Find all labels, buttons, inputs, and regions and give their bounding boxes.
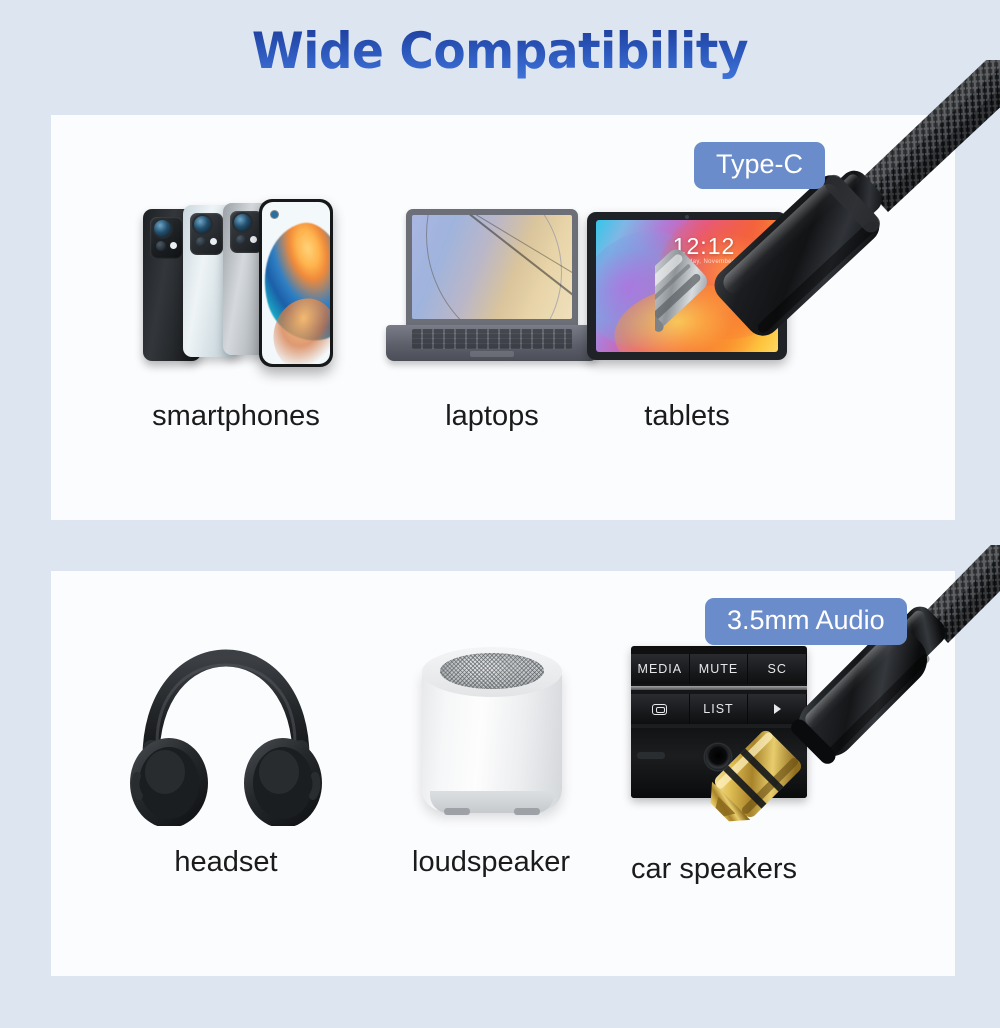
page-title: Wide Compatibility xyxy=(252,22,748,80)
infographic-page: Wide Compatibility xyxy=(0,0,1000,1028)
device-item-loudspeaker: loudspeaker xyxy=(376,641,606,901)
bluetooth-speaker-icon xyxy=(416,641,568,819)
device-item-smartphones: smartphones xyxy=(121,195,351,445)
car-button-list[interactable]: LIST xyxy=(690,694,749,724)
aux-jack-port-icon[interactable] xyxy=(705,744,731,770)
wallpaper-curve xyxy=(426,215,572,319)
camera-flash-icon xyxy=(210,238,217,245)
car-button-mute[interactable]: MUTE xyxy=(690,654,749,684)
tablet-body: 12:12 Wednesday, November 11 xyxy=(587,212,787,360)
car-panel-lower xyxy=(631,728,807,798)
car-button-scan[interactable]: SC xyxy=(748,654,807,684)
car-button-row-top: MEDIA MUTE SC xyxy=(631,654,807,684)
panel-slot xyxy=(637,752,665,759)
smartphones-icon xyxy=(121,195,351,375)
headphones-icon xyxy=(121,636,331,831)
camera-flash-icon xyxy=(170,242,177,249)
panel-divider xyxy=(631,686,807,690)
trackpad-icon xyxy=(470,351,514,357)
camera-lens-main xyxy=(194,216,211,233)
car-button-next[interactable] xyxy=(748,694,807,724)
speaker-foot xyxy=(444,808,470,815)
device-item-tablets: 12:12 Wednesday, November 11 tablets xyxy=(587,212,787,462)
tablet-clock-time: 12:12 xyxy=(587,233,787,260)
car-button-row-bottom: LIST xyxy=(631,694,807,724)
laptop-icon xyxy=(386,203,598,368)
phone-front-display xyxy=(259,199,333,367)
car-button-media[interactable]: MEDIA xyxy=(631,654,690,684)
device-label-loudspeaker: loudspeaker xyxy=(376,846,606,879)
car-stereo-panel-icon: MEDIA MUTE SC LIST xyxy=(631,646,807,798)
laptop-screen xyxy=(412,215,572,319)
tablet-clock-date: Wednesday, November 11 xyxy=(587,259,787,265)
device-label-tablets: tablets xyxy=(587,400,787,433)
camera-module-icon xyxy=(150,217,183,259)
camera-lens-main xyxy=(234,214,251,231)
device-label-laptops: laptops xyxy=(386,400,598,433)
tablet-front-camera-icon xyxy=(685,215,689,219)
device-item-car-speakers: MEDIA MUTE SC LIST xyxy=(599,646,829,906)
camera-flash-icon xyxy=(250,236,257,243)
camera-lens-secondary xyxy=(196,237,206,247)
car-button-repeat[interactable] xyxy=(631,694,690,724)
laptop-base xyxy=(386,325,598,361)
speaker-foot xyxy=(514,808,540,815)
camera-lens-secondary xyxy=(236,235,246,245)
badge-type-c: Type-C xyxy=(694,142,825,189)
camera-lens-secondary xyxy=(156,241,166,251)
keyboard-icon xyxy=(412,329,572,349)
speaker-grille-mesh xyxy=(440,653,544,689)
page-title-container: Wide Compatibility xyxy=(0,22,1000,80)
device-item-laptops: laptops xyxy=(386,203,598,453)
device-label-smartphones: smartphones xyxy=(121,400,351,433)
device-label-car-speakers: car speakers xyxy=(599,853,829,886)
camera-module-icon xyxy=(190,213,223,255)
laptop-lid xyxy=(406,209,578,327)
device-label-headset: headset xyxy=(121,846,331,879)
front-camera-icon xyxy=(271,211,278,218)
phone-screen xyxy=(262,202,330,364)
badge-3-5mm-audio: 3.5mm Audio xyxy=(705,598,907,645)
camera-lens-main xyxy=(154,220,171,237)
next-arrow-icon xyxy=(774,704,781,714)
tablet-icon: 12:12 Wednesday, November 11 xyxy=(587,212,787,360)
car-stereo-panel: MEDIA MUTE SC LIST xyxy=(631,646,807,798)
device-item-headset: headset xyxy=(121,636,331,896)
repeat-icon xyxy=(652,704,667,715)
